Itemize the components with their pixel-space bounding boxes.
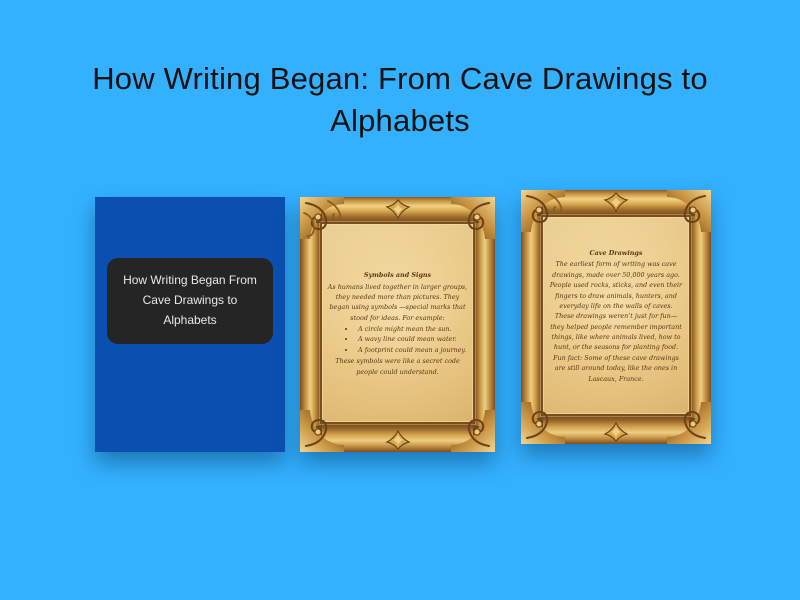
frame-rail-bottom — [300, 422, 495, 452]
frame-rail-left — [521, 190, 543, 444]
title-slide-card[interactable]: How Writing Began From Cave Drawings to … — [95, 197, 285, 452]
frame-rail-top — [300, 197, 495, 224]
frame-crest-icon — [599, 191, 633, 213]
cave-card-heading: Cave Drawings — [547, 248, 685, 258]
frame-crest-icon — [381, 429, 415, 451]
symbols-card-heading: Symbols and Signs — [326, 270, 469, 280]
symbols-card-closing-paragraph: These symbols were like a secret code pe… — [326, 356, 469, 377]
symbols-card-bullet-list: A circle might mean the sun. A wavy line… — [326, 324, 469, 355]
cave-card-paragraph: These drawings weren’t just for fun— the… — [547, 311, 685, 353]
symbols-card-text: Symbols and Signs As humans lived togeth… — [326, 227, 469, 420]
symbols-and-signs-card[interactable]: Symbols and Signs As humans lived togeth… — [300, 197, 495, 452]
symbols-card-paragraph: As humans lived together in larger group… — [326, 282, 469, 324]
cave-card-paragraph: The earliest form of writing was cave dr… — [547, 259, 685, 311]
card-deck: How Writing Began From Cave Drawings to … — [0, 0, 800, 600]
frame-rail-right — [689, 190, 711, 444]
cave-card-text: Cave Drawings The earliest form of writi… — [547, 220, 685, 412]
frame-rail-right — [473, 197, 495, 452]
list-item: A wavy line could mean water. — [356, 334, 469, 344]
frame-crest-icon — [381, 198, 415, 220]
frame-rail-bottom — [521, 414, 711, 444]
cave-card-funfact-paragraph: Fun fact: Some of these cave drawings ar… — [547, 353, 685, 384]
frame-rail-top — [521, 190, 711, 217]
frame-crest-icon — [599, 421, 633, 443]
list-item: A footprint could mean a journey. — [356, 345, 469, 355]
cave-drawings-card[interactable]: Cave Drawings The earliest form of writi… — [521, 190, 711, 444]
frame-rail-left — [300, 197, 322, 452]
title-slide-textbox: How Writing Began From Cave Drawings to … — [107, 258, 273, 344]
list-item: A circle might mean the sun. — [356, 324, 469, 334]
title-slide-text: How Writing Began From Cave Drawings to … — [107, 271, 273, 330]
